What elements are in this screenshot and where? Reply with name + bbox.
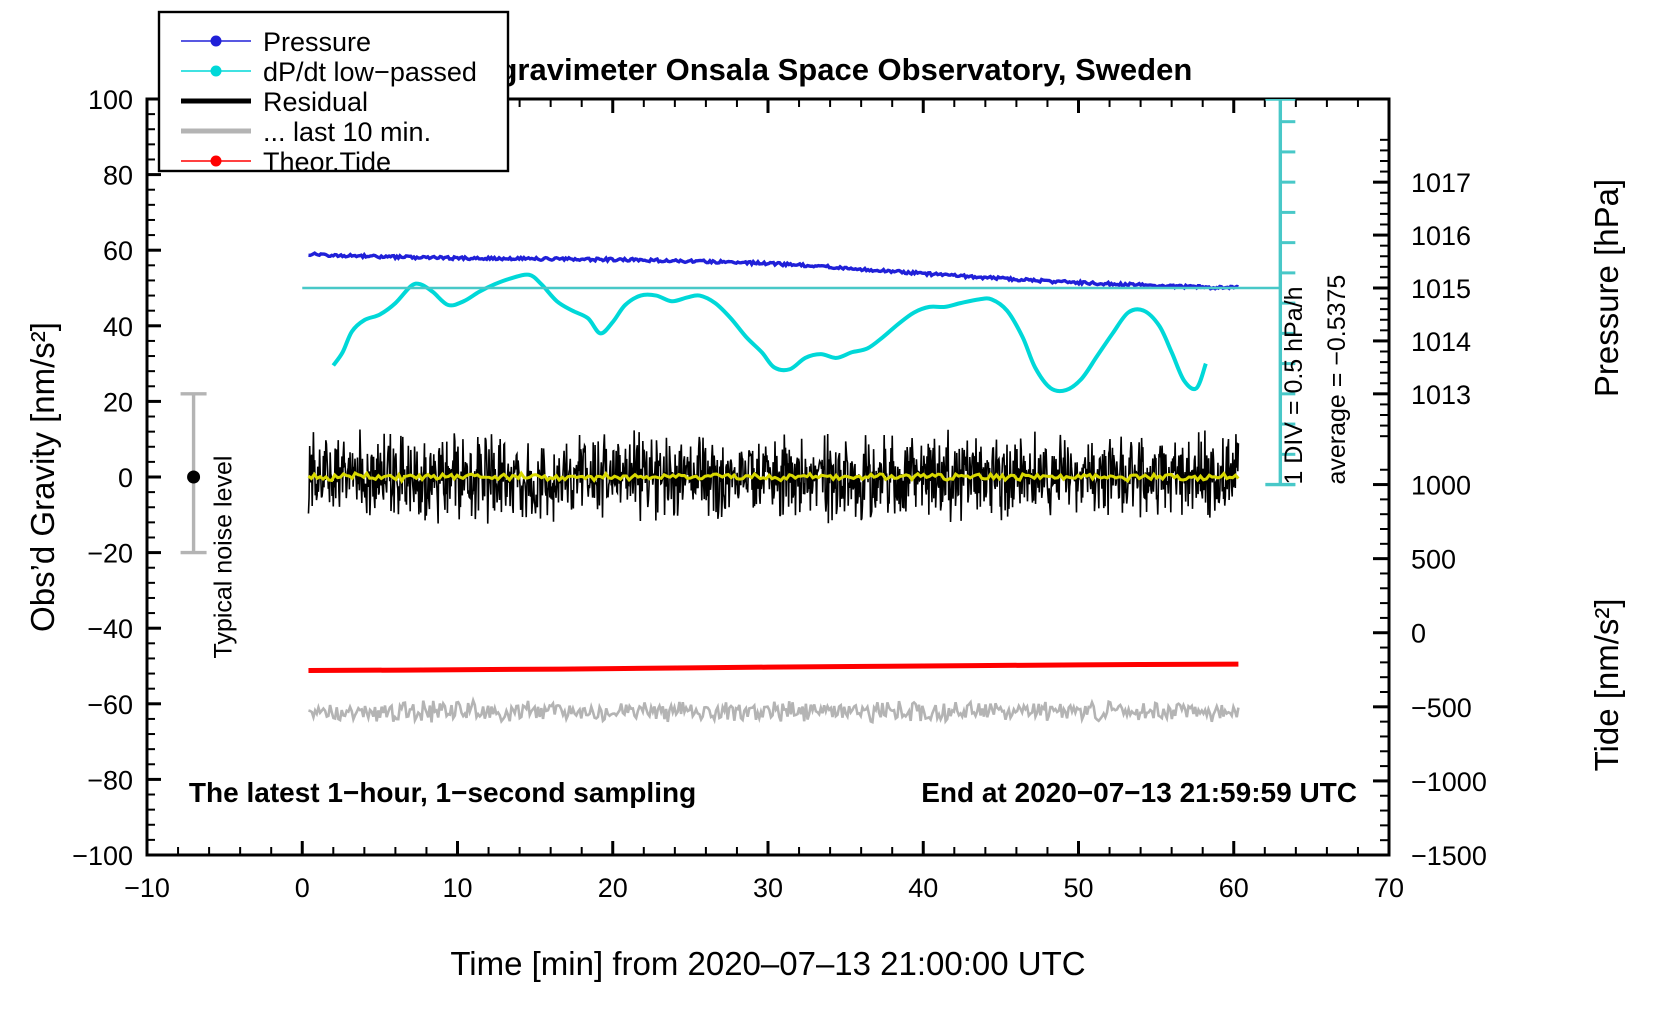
y-tick-label: 100 [88, 85, 133, 115]
x-tick-label: 50 [1063, 873, 1093, 903]
x-tick-label: −10 [124, 873, 170, 903]
x-tick-label: 0 [295, 873, 310, 903]
legend-marker-0 [211, 36, 222, 47]
y-tick-label: 20 [103, 387, 133, 417]
tide-axis-title: Tide [nm/s²] [1588, 598, 1625, 771]
y-tick-label: 40 [103, 312, 133, 342]
chart-page: −10010203040506070−100−80−60−40−20020406… [0, 0, 1660, 1020]
legend-label-4: Theor.Tide [263, 147, 391, 177]
y-tick-label: −80 [87, 765, 133, 795]
legend-label-2: Residual [263, 87, 368, 117]
gravimeter-chart: −10010203040506070−100−80−60−40−20020406… [0, 0, 1660, 1020]
series-last-10-min [308, 700, 1238, 722]
pressure-tick-label: 1017 [1411, 168, 1471, 198]
legend-label-3: ... last 10 min. [263, 117, 431, 147]
tide-tick-label: −500 [1411, 693, 1472, 723]
y-tick-label: 80 [103, 161, 133, 191]
y-axis-title: Obs’d Gravity [nm/s²] [24, 322, 61, 632]
tide-tick-label: −1000 [1411, 767, 1487, 797]
y-tick-label: −60 [87, 690, 133, 720]
noise-level-point [187, 471, 200, 484]
x-tick-label: 70 [1374, 873, 1404, 903]
y-tick-label: 60 [103, 236, 133, 266]
x-axis-title: Time [min] from 2020–07–13 21:00:00 UTC [450, 945, 1085, 982]
y-tick-label: 0 [118, 463, 133, 493]
pressure-axis-title: Pressure [hPa] [1588, 179, 1625, 397]
tide-tick-label: −1500 [1411, 841, 1487, 871]
pressure-tick-label: 1015 [1411, 274, 1471, 304]
series-theor-tide [308, 664, 1238, 670]
caption-bottom-right: End at 2020−07−13 21:59:59 UTC [921, 777, 1357, 808]
x-tick-label: 40 [908, 873, 938, 903]
legend-marker-4 [211, 156, 222, 167]
series-dpdt-lowpassed [333, 275, 1206, 392]
x-tick-label: 10 [442, 873, 472, 903]
caption-bottom-left: The latest 1−hour, 1−second sampling [189, 777, 696, 808]
noise-level-label: Typical noise level [210, 456, 238, 659]
x-tick-label: 60 [1219, 873, 1249, 903]
y-tick-label: −100 [72, 841, 133, 871]
series-group [181, 99, 1296, 722]
y-tick-label: −20 [87, 539, 133, 569]
y-tick-label: −40 [87, 614, 133, 644]
dpdt-average-label: average = −0.5375 [1323, 275, 1351, 485]
x-tick-label: 20 [598, 873, 628, 903]
dpdt-div-label: 1 DIV = 0.5 hPa/h [1280, 287, 1308, 485]
x-tick-label: 30 [753, 873, 783, 903]
legend-marker-1 [211, 66, 222, 77]
tide-tick-label: 1000 [1411, 471, 1471, 501]
legend-label-0: Pressure [263, 27, 371, 57]
pressure-tick-label: 1014 [1411, 327, 1471, 357]
pressure-tick-label: 1013 [1411, 380, 1471, 410]
legend-label-1: dP/dt low−passed [263, 57, 477, 87]
pressure-tick-label: 1016 [1411, 221, 1471, 251]
series-pressure [308, 253, 1238, 289]
tide-tick-label: 500 [1411, 545, 1456, 575]
tide-tick-label: 0 [1411, 619, 1426, 649]
